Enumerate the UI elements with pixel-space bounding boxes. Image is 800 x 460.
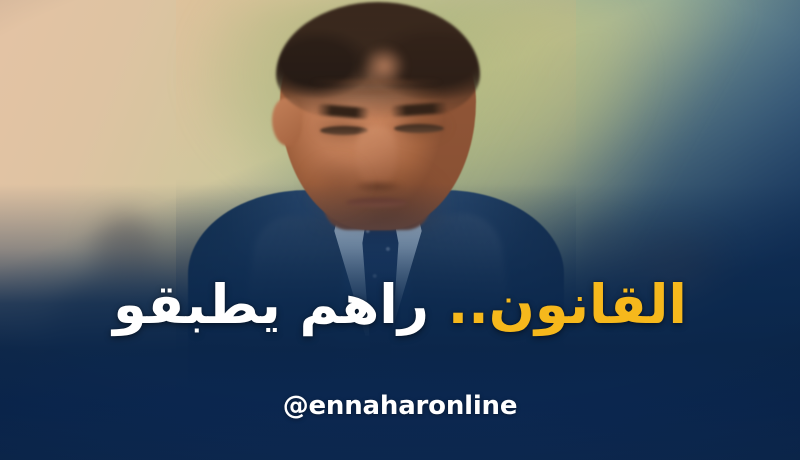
headline-gold-segment: القانون.. <box>448 273 687 336</box>
headline-white-segment: راهم يطبقو <box>113 273 429 336</box>
account-handle: @ennaharonline <box>0 391 800 421</box>
headline: القانون.. راهم يطبقو <box>0 278 800 332</box>
social-media-card: القانون.. راهم يطبقو @ennaharonline <box>0 0 800 460</box>
